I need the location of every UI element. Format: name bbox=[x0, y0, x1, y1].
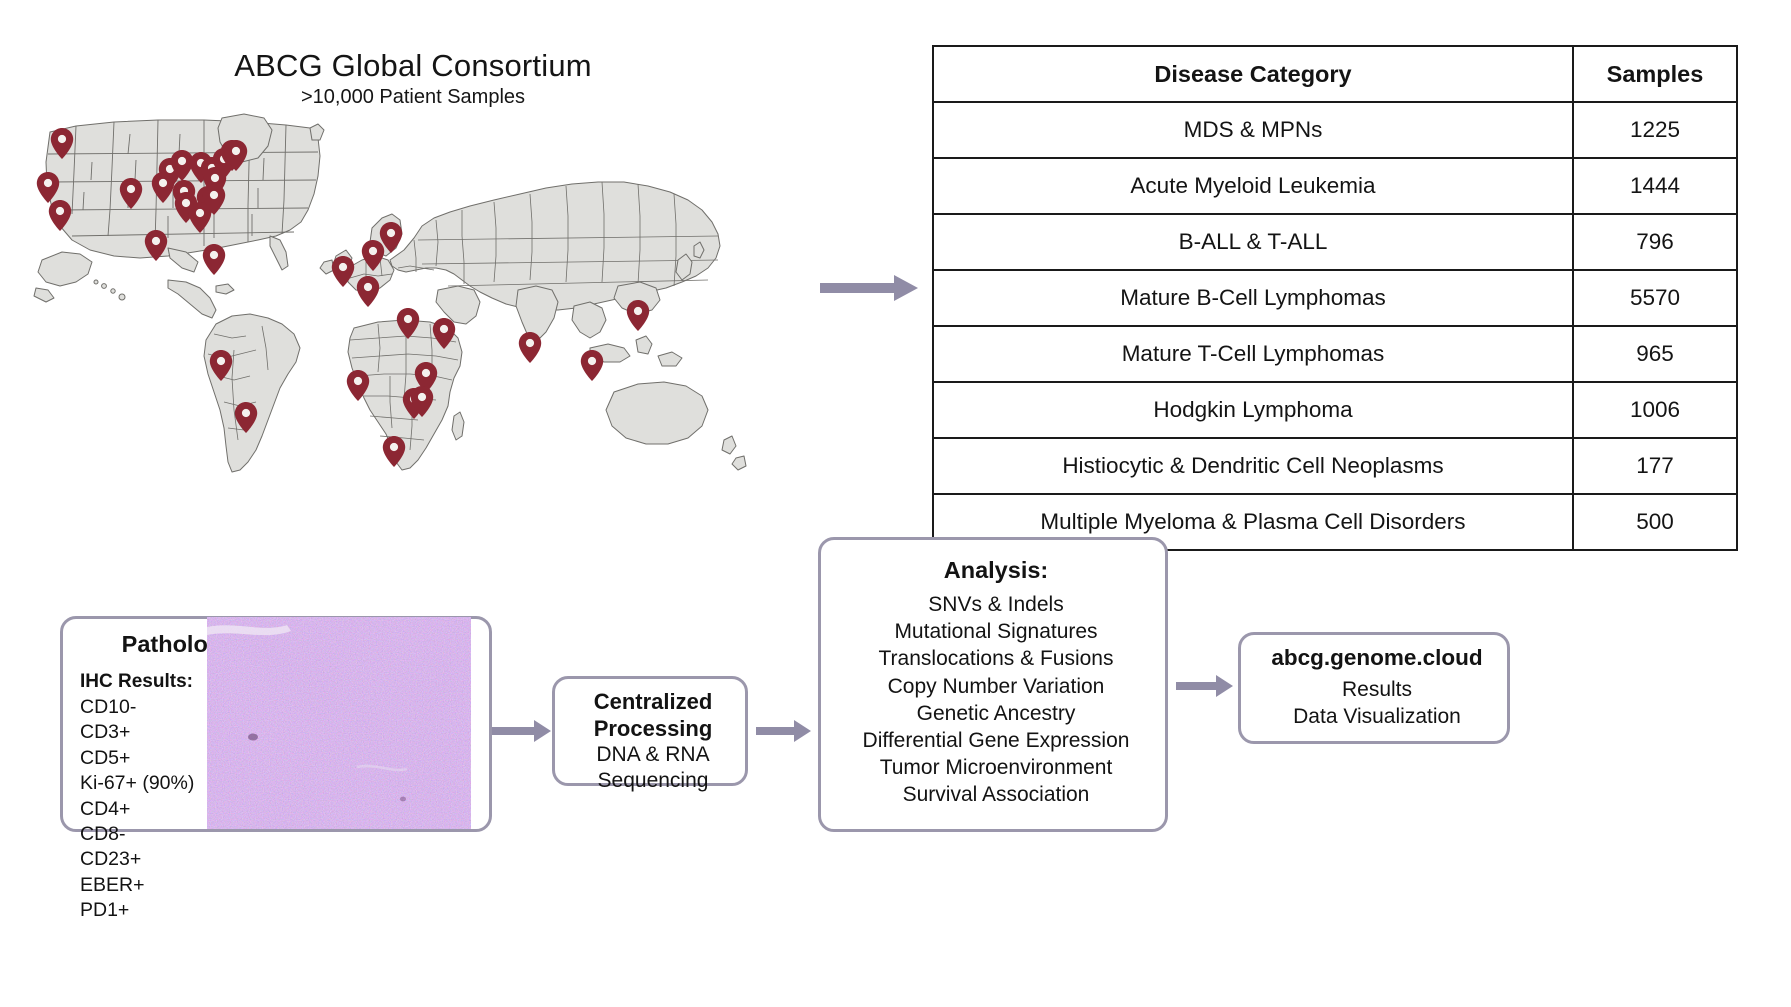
figure-root: ABCG Global Consortium >10,000 Patient S… bbox=[0, 0, 1791, 1007]
processing-title-line2: Processing bbox=[594, 716, 713, 741]
table-row: Acute Myeloid Leukemia1444 bbox=[933, 158, 1737, 214]
analysis-box: Analysis: SNVs & IndelsMutational Signat… bbox=[818, 537, 1168, 832]
arrow-processing-to-analysis-icon bbox=[756, 718, 812, 744]
analysis-item-list: SNVs & IndelsMutational SignaturesTransl… bbox=[821, 591, 1171, 809]
h-and-e-histology-image bbox=[207, 617, 471, 829]
cell-disease-category: Hodgkin Lymphoma bbox=[933, 382, 1573, 438]
map-subtitle: >10,000 Patient Samples bbox=[18, 86, 808, 109]
ihc-result-item: EBER+ bbox=[80, 873, 194, 898]
cloud-line: Results bbox=[1241, 676, 1513, 703]
table-row: B-ALL & T-ALL796 bbox=[933, 214, 1737, 270]
pathology-clinical-review-box: Pathology & Clinical Review IHC Results:… bbox=[60, 616, 492, 832]
cell-samples: 965 bbox=[1573, 326, 1737, 382]
table-row: Mature B-Cell Lymphomas5570 bbox=[933, 270, 1737, 326]
processing-title-line1: Centralized bbox=[594, 689, 713, 714]
column-header-disease-category: Disease Category bbox=[933, 46, 1573, 102]
cell-samples: 1444 bbox=[1573, 158, 1737, 214]
table-row: Hodgkin Lymphoma1006 bbox=[933, 382, 1737, 438]
processing-body-line1: DNA & RNA bbox=[596, 743, 709, 766]
ihc-result-item: CD3+ bbox=[80, 720, 194, 745]
cell-disease-category: Mature T-Cell Lymphomas bbox=[933, 326, 1573, 382]
ihc-results-heading: IHC Results: bbox=[80, 671, 193, 693]
ihc-result-item: CD10- bbox=[80, 695, 194, 720]
ihc-result-item: CD4+ bbox=[80, 797, 194, 822]
table-header-row: Disease Category Samples bbox=[933, 46, 1737, 102]
processing-title: Centralized Processing bbox=[555, 688, 751, 742]
cell-samples: 1006 bbox=[1573, 382, 1737, 438]
analysis-item: Genetic Ancestry bbox=[821, 700, 1171, 727]
processing-body: DNA & RNA Sequencing bbox=[555, 742, 751, 794]
arrow-pathology-to-processing-icon bbox=[492, 718, 552, 744]
ihc-result-item: CD5+ bbox=[80, 746, 194, 771]
analysis-item: SNVs & Indels bbox=[821, 591, 1171, 618]
cell-samples: 796 bbox=[1573, 214, 1737, 270]
cell-samples: 500 bbox=[1573, 494, 1737, 550]
column-header-samples: Samples bbox=[1573, 46, 1737, 102]
cloud-line-list: ResultsData Visualization bbox=[1241, 676, 1513, 730]
cell-disease-category: MDS & MPNs bbox=[933, 102, 1573, 158]
analysis-item: Translocations & Fusions bbox=[821, 645, 1171, 672]
cell-disease-category: Acute Myeloid Leukemia bbox=[933, 158, 1573, 214]
table-row: MDS & MPNs1225 bbox=[933, 102, 1737, 158]
map-panel: ABCG Global Consortium >10,000 Patient S… bbox=[18, 30, 808, 500]
cloud-line: Data Visualization bbox=[1241, 703, 1513, 730]
cell-disease-category: B-ALL & T-ALL bbox=[933, 214, 1573, 270]
processing-body-line2: Sequencing bbox=[598, 769, 709, 792]
disease-category-table: Disease Category Samples MDS & MPNs1225A… bbox=[932, 45, 1736, 551]
ihc-result-item: Ki-67+ (90%) bbox=[80, 771, 194, 796]
table-row: Histiocytic & Dendritic Cell Neoplasms17… bbox=[933, 438, 1737, 494]
cell-samples: 177 bbox=[1573, 438, 1737, 494]
arrow-analysis-to-cloud-icon bbox=[1176, 673, 1234, 699]
cell-samples: 1225 bbox=[1573, 102, 1737, 158]
cell-disease-category: Mature B-Cell Lymphomas bbox=[933, 270, 1573, 326]
cell-samples: 5570 bbox=[1573, 270, 1737, 326]
cloud-title: abcg.genome.cloud bbox=[1241, 645, 1513, 671]
analysis-item: Differential Gene Expression bbox=[821, 727, 1171, 754]
arrow-map-to-table-icon bbox=[820, 272, 920, 304]
analysis-item: Copy Number Variation bbox=[821, 673, 1171, 700]
cell-disease-category: Histiocytic & Dendritic Cell Neoplasms bbox=[933, 438, 1573, 494]
ihc-result-item: CD23+ bbox=[80, 847, 194, 872]
analysis-item: Tumor Microenvironment bbox=[821, 754, 1171, 781]
analysis-item: Survival Association bbox=[821, 781, 1171, 808]
centralized-processing-box: Centralized Processing DNA & RNA Sequenc… bbox=[552, 676, 748, 786]
ihc-results-list: CD10-CD3+CD5+Ki-67+ (90%)CD4+CD8-CD23+EB… bbox=[80, 695, 194, 924]
analysis-item: Mutational Signatures bbox=[821, 618, 1171, 645]
ihc-result-item: CD8- bbox=[80, 822, 194, 847]
ihc-result-item: PD1+ bbox=[80, 898, 194, 923]
analysis-title: Analysis: bbox=[821, 557, 1171, 584]
map-title: ABCG Global Consortium bbox=[18, 48, 808, 84]
genome-cloud-box: abcg.genome.cloud ResultsData Visualizat… bbox=[1238, 632, 1510, 744]
world-map-graphic bbox=[18, 110, 808, 490]
table-row: Mature T-Cell Lymphomas965 bbox=[933, 326, 1737, 382]
